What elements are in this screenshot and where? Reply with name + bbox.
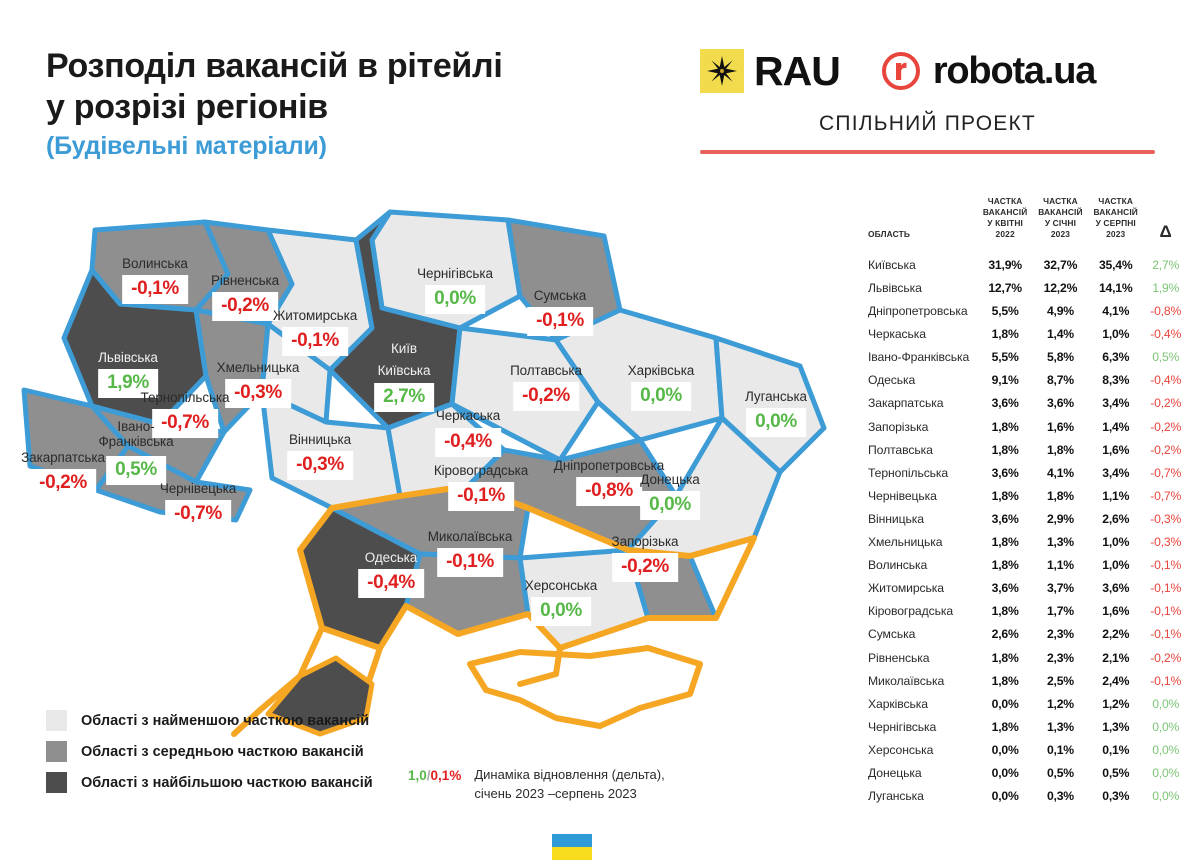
- page-title-line1: Розподіл вакансій в рітейлі: [46, 46, 666, 87]
- cell-aug-2023: 2,1%: [1088, 646, 1143, 669]
- cell-delta: 0,0%: [1143, 715, 1188, 738]
- legend-item-0: Області з найменшою часткою вакансій: [46, 706, 446, 735]
- cell-region: Херсонська: [868, 738, 978, 761]
- table-body: Київська31,9%32,7%35,4%2,7%Львівська12,7…: [868, 253, 1188, 807]
- table-row: Кіровоградська1,8%1,7%1,6%-0,1%: [868, 600, 1188, 623]
- map-value-23: 0,0%: [531, 597, 591, 626]
- cell-apr-2022: 1,8%: [978, 415, 1033, 438]
- table-row: Рівненська1,8%2,3%2,1%-0,2%: [868, 646, 1188, 669]
- joint-project-label: СПІЛЬНИЙ ПРОЕКТ: [700, 112, 1155, 136]
- cell-apr-2022: 3,6%: [978, 577, 1033, 600]
- cell-aug-2023: 1,2%: [1088, 692, 1143, 715]
- map-label-13: Вінницька: [289, 432, 351, 447]
- rau-logo: RAU: [700, 48, 840, 95]
- cell-region: Хмельницька: [868, 531, 978, 554]
- cell-region: Вінницька: [868, 507, 978, 530]
- col-header-apr-2022: ЧАСТКАВАКАНСІЙУ КВІТНІ2022: [978, 196, 1033, 253]
- cell-aug-2023: 1,4%: [1088, 415, 1143, 438]
- cell-apr-2022: 1,8%: [978, 484, 1033, 507]
- table-row: Житомирська3,6%3,7%3,6%-0,1%: [868, 577, 1188, 600]
- title-block: Розподіл вакансій в рітейлі у розрізі ре…: [46, 46, 666, 162]
- delta-description: Динаміка відновлення (дельта), січень 20…: [474, 766, 664, 804]
- legend-item-1: Області з середньою часткою вакансій: [46, 737, 446, 766]
- rau-wordmark: RAU: [754, 48, 840, 95]
- cell-jan-2023: 32,7%: [1033, 253, 1088, 276]
- cell-aug-2023: 1,6%: [1088, 600, 1143, 623]
- cell-delta: -0,7%: [1143, 461, 1188, 484]
- cell-region: Дніпропетровська: [868, 300, 978, 323]
- map-label-1: Рівненська: [211, 273, 279, 288]
- legend-label-0: Області з найменшою часткою вакансій: [81, 713, 369, 729]
- cell-delta: -0,2%: [1143, 646, 1188, 669]
- table-row: Івано-Франківська5,5%5,8%6,3%0,5%: [868, 346, 1188, 369]
- cell-region: Черкаська: [868, 323, 978, 346]
- header: Розподіл вакансій в рітейлі у розрізі ре…: [0, 0, 1200, 180]
- map-label-23: Херсонська: [525, 578, 597, 593]
- cell-delta: -0,1%: [1143, 600, 1188, 623]
- cell-jan-2023: 3,6%: [1033, 392, 1088, 415]
- cell-jan-2023: 0,5%: [1033, 761, 1088, 784]
- cell-jan-2023: 1,8%: [1033, 484, 1088, 507]
- map-value-8: -0,2%: [513, 382, 579, 411]
- map-value-2: -0,1%: [282, 327, 348, 356]
- cell-apr-2022: 1,8%: [978, 646, 1033, 669]
- cell-region: Харківська: [868, 692, 978, 715]
- map-label-3: Чернігівська: [417, 266, 493, 281]
- cell-delta: -0,3%: [1143, 507, 1188, 530]
- cell-jan-2023: 2,9%: [1033, 507, 1088, 530]
- table-row: Запорізька1,8%1,6%1,4%-0,2%: [868, 415, 1188, 438]
- cell-delta: 0,0%: [1143, 785, 1188, 808]
- delta-note: 1,0/0,1% Динаміка відновлення (дельта), …: [408, 766, 665, 804]
- logo-row: RAU robota.ua: [700, 42, 1170, 100]
- map-legend: Області з найменшою часткою вакансійОбла…: [46, 706, 446, 799]
- cell-region: Закарпатська: [868, 392, 978, 415]
- map-value-12: -0,4%: [435, 428, 501, 457]
- cell-jan-2023: 0,3%: [1033, 785, 1088, 808]
- table-row: Чернігівська1,8%1,3%1,3%0,0%: [868, 715, 1188, 738]
- map-label-8: Полтавська: [510, 363, 582, 378]
- cell-aug-2023: 8,3%: [1088, 369, 1143, 392]
- map-label-12: Черкаська: [436, 408, 500, 423]
- cell-region: Кіровоградська: [868, 600, 978, 623]
- map-label-19: Чернівецька: [160, 481, 236, 496]
- cell-jan-2023: 1,1%: [1033, 554, 1088, 577]
- cell-jan-2023: 12,2%: [1033, 276, 1088, 299]
- cell-delta: -0,4%: [1143, 323, 1188, 346]
- cell-aug-2023: 14,1%: [1088, 276, 1143, 299]
- cell-apr-2022: 0,0%: [978, 785, 1033, 808]
- table-row: Львівська12,7%12,2%14,1%1,9%: [868, 276, 1188, 299]
- cell-apr-2022: 3,6%: [978, 461, 1033, 484]
- map-value-9: 0,0%: [631, 382, 691, 411]
- map-value-4: -0,1%: [527, 307, 593, 336]
- cell-region: Рівненська: [868, 646, 978, 669]
- cell-apr-2022: 1,8%: [978, 438, 1033, 461]
- cell-jan-2023: 4,9%: [1033, 300, 1088, 323]
- legend-swatch-0: [46, 710, 67, 731]
- map-value-15: -0,8%: [576, 477, 642, 506]
- cell-delta: -0,2%: [1143, 415, 1188, 438]
- robota-wordmark: robota.ua: [933, 50, 1095, 93]
- cell-delta: -0,7%: [1143, 484, 1188, 507]
- table-row: Дніпропетровська5,5%4,9%4,1%-0,8%: [868, 300, 1188, 323]
- legend-item-2: Області з найбільшою часткою вакансій: [46, 768, 446, 797]
- map-label-22: Одеська: [365, 550, 417, 565]
- cell-delta: 2,7%: [1143, 253, 1188, 276]
- col-header-region: ОБЛАСТЬ: [868, 196, 978, 253]
- map-label-20: Миколаївська: [428, 529, 513, 544]
- cell-aug-2023: 3,4%: [1088, 461, 1143, 484]
- cell-apr-2022: 3,6%: [978, 507, 1033, 530]
- cell-region: Чернівецька: [868, 484, 978, 507]
- cell-aug-2023: 1,3%: [1088, 715, 1143, 738]
- map-label-0: Волинська: [122, 256, 188, 271]
- map-value-0: -0,1%: [122, 275, 188, 304]
- table-row: Чернівецька1,8%1,8%1,1%-0,7%: [868, 484, 1188, 507]
- map-label-21: Запорізька: [612, 534, 679, 549]
- cell-apr-2022: 1,8%: [978, 531, 1033, 554]
- cell-jan-2023: 1,4%: [1033, 323, 1088, 346]
- cell-apr-2022: 0,0%: [978, 761, 1033, 784]
- map-value-14: -0,1%: [448, 482, 514, 511]
- cell-apr-2022: 1,8%: [978, 669, 1033, 692]
- cell-aug-2023: 0,1%: [1088, 738, 1143, 761]
- table-row: Волинська1,8%1,1%1,0%-0,1%: [868, 554, 1188, 577]
- cell-region: Луганська: [868, 785, 978, 808]
- delta-key-positive: 1,0: [408, 768, 427, 783]
- delta-key-negative: 0,1%: [431, 768, 462, 783]
- cell-delta: 0,0%: [1143, 761, 1188, 784]
- map-label-11: Тернопільська: [141, 390, 230, 405]
- cell-jan-2023: 3,7%: [1033, 577, 1088, 600]
- table-head: ОБЛАСТЬ ЧАСТКАВАКАНСІЙУ КВІТНІ2022 ЧАСТК…: [868, 196, 1188, 253]
- col-header-jan-2023: ЧАСТКАВАКАНСІЙУ СІЧНІ2023: [1033, 196, 1088, 253]
- table-row: Черкаська1,8%1,4%1,0%-0,4%: [868, 323, 1188, 346]
- cell-region: Івано-Франківська: [868, 346, 978, 369]
- table-row: Одеська9,1%8,7%8,3%-0,4%: [868, 369, 1188, 392]
- cell-region: Запорізька: [868, 415, 978, 438]
- cell-delta: -0,2%: [1143, 438, 1188, 461]
- map-label-5: Львівська: [98, 350, 158, 365]
- cell-jan-2023: 8,7%: [1033, 369, 1088, 392]
- brand-block: RAU robota.ua СПІЛЬНИЙ ПРОЕКТ: [700, 42, 1170, 154]
- cell-delta: -0,1%: [1143, 669, 1188, 692]
- cell-apr-2022: 1,8%: [978, 715, 1033, 738]
- cell-region: Донецька: [868, 761, 978, 784]
- header-divider: [700, 150, 1155, 154]
- cell-delta: 0,0%: [1143, 692, 1188, 715]
- cell-jan-2023: 2,5%: [1033, 669, 1088, 692]
- map-label-6: Хмельницька: [217, 360, 300, 375]
- map-value-22: -0,4%: [358, 569, 424, 598]
- map-value-10: 0,0%: [746, 408, 806, 437]
- map-label-14: Кіровоградська: [434, 463, 528, 478]
- map-label-18: Закарпатська: [21, 450, 105, 465]
- cell-apr-2022: 2,6%: [978, 623, 1033, 646]
- cell-region: Житомирська: [868, 577, 978, 600]
- table-row: Харківська0,0%1,2%1,2%0,0%: [868, 692, 1188, 715]
- delta-key: 1,0/0,1%: [408, 766, 461, 786]
- legend-swatch-1: [46, 741, 67, 762]
- col-header-aug-2023: ЧАСТКАВАКАНСІЙУ СЕРПНІ2023: [1088, 196, 1143, 253]
- cell-aug-2023: 4,1%: [1088, 300, 1143, 323]
- cell-apr-2022: 9,1%: [978, 369, 1033, 392]
- cell-aug-2023: 1,0%: [1088, 531, 1143, 554]
- ukraine-flag-icon: [551, 833, 593, 861]
- cell-jan-2023: 2,3%: [1033, 623, 1088, 646]
- table-row: Київська31,9%32,7%35,4%2,7%: [868, 253, 1188, 276]
- table-row: Полтавська1,8%1,8%1,6%-0,2%: [868, 438, 1188, 461]
- map-value-16: 0,0%: [640, 491, 700, 520]
- cell-delta: -0,1%: [1143, 554, 1188, 577]
- cell-apr-2022: 5,5%: [978, 300, 1033, 323]
- cell-aug-2023: 2,2%: [1088, 623, 1143, 646]
- map-label-15: Дніпропетровська: [554, 458, 664, 473]
- cell-region: Сумська: [868, 623, 978, 646]
- legend-label-2: Області з найбільшою часткою вакансій: [81, 775, 373, 791]
- cell-apr-2022: 0,0%: [978, 692, 1033, 715]
- cell-region: Полтавська: [868, 438, 978, 461]
- table-row: Донецька0,0%0,5%0,5%0,0%: [868, 761, 1188, 784]
- cell-apr-2022: 0,0%: [978, 738, 1033, 761]
- cell-delta: -0,3%: [1143, 531, 1188, 554]
- cell-region: Чернігівська: [868, 715, 978, 738]
- map-label-9: Харківська: [628, 363, 694, 378]
- map-label-16: Донецька: [640, 472, 699, 487]
- cell-aug-2023: 1,0%: [1088, 323, 1143, 346]
- cell-aug-2023: 2,4%: [1088, 669, 1143, 692]
- page-title-line2: у розрізі регіонів: [46, 87, 666, 128]
- map-label-7: Київська: [378, 363, 431, 378]
- map-label-2: Житомирська: [273, 308, 357, 323]
- robota-r-icon: [880, 50, 922, 92]
- map-value-3: 0,0%: [425, 285, 485, 314]
- map-value-13: -0,3%: [287, 451, 353, 480]
- legend-label-1: Області з середньою часткою вакансій: [81, 744, 364, 760]
- cell-jan-2023: 1,2%: [1033, 692, 1088, 715]
- cell-jan-2023: 1,6%: [1033, 415, 1088, 438]
- rau-star-icon: [700, 49, 744, 93]
- cell-delta: 1,9%: [1143, 276, 1188, 299]
- cell-apr-2022: 1,8%: [978, 554, 1033, 577]
- cell-jan-2023: 1,3%: [1033, 715, 1088, 738]
- map-label-10: Луганська: [745, 389, 807, 404]
- cell-jan-2023: 0,1%: [1033, 738, 1088, 761]
- regions-table: ОБЛАСТЬ ЧАСТКАВАКАНСІЙУ КВІТНІ2022 ЧАСТК…: [868, 196, 1188, 808]
- table-row: Тернопільська3,6%4,1%3,4%-0,7%: [868, 461, 1188, 484]
- table-row: Луганська0,0%0,3%0,3%0,0%: [868, 785, 1188, 808]
- cell-delta: -0,1%: [1143, 577, 1188, 600]
- cell-apr-2022: 1,8%: [978, 323, 1033, 346]
- map-value-18: -0,2%: [30, 469, 96, 498]
- cell-jan-2023: 1,3%: [1033, 531, 1088, 554]
- cell-delta: -0,1%: [1143, 623, 1188, 646]
- map-label-kyiv-city: Київ: [391, 341, 417, 356]
- delta-description-line1: Динаміка відновлення (дельта),: [474, 766, 664, 785]
- cell-delta: -0,8%: [1143, 300, 1188, 323]
- cell-aug-2023: 6,3%: [1088, 346, 1143, 369]
- col-header-delta: Δ: [1143, 196, 1188, 253]
- cell-region: Тернопільська: [868, 461, 978, 484]
- table-row: Хмельницька1,8%1,3%1,0%-0,3%: [868, 531, 1188, 554]
- map-value-1: -0,2%: [212, 292, 278, 321]
- map-value-20: -0,1%: [437, 548, 503, 577]
- cell-aug-2023: 1,0%: [1088, 554, 1143, 577]
- map-label-4: Сумська: [534, 288, 586, 303]
- table-row: Херсонська0,0%0,1%0,1%0,0%: [868, 738, 1188, 761]
- map-value-21: -0,2%: [612, 553, 678, 582]
- cell-jan-2023: 4,1%: [1033, 461, 1088, 484]
- cell-aug-2023: 3,4%: [1088, 392, 1143, 415]
- cell-aug-2023: 1,6%: [1088, 438, 1143, 461]
- cell-delta: 0,0%: [1143, 738, 1188, 761]
- cell-aug-2023: 3,6%: [1088, 577, 1143, 600]
- legend-swatch-2: [46, 772, 67, 793]
- table-row: Миколаївська1,8%2,5%2,4%-0,1%: [868, 669, 1188, 692]
- cell-apr-2022: 31,9%: [978, 253, 1033, 276]
- table-header-row: ОБЛАСТЬ ЧАСТКАВАКАНСІЙУ КВІТНІ2022 ЧАСТК…: [868, 196, 1188, 253]
- cell-region: Львівська: [868, 276, 978, 299]
- cell-region: Волинська: [868, 554, 978, 577]
- cell-delta: -0,2%: [1143, 392, 1188, 415]
- cell-aug-2023: 0,5%: [1088, 761, 1143, 784]
- cell-jan-2023: 5,8%: [1033, 346, 1088, 369]
- table-row: Закарпатська3,6%3,6%3,4%-0,2%: [868, 392, 1188, 415]
- cell-jan-2023: 1,7%: [1033, 600, 1088, 623]
- map-value-17: 0,5%: [106, 456, 166, 485]
- cell-apr-2022: 3,6%: [978, 392, 1033, 415]
- page-subtitle: (Будівельні матеріали): [46, 131, 666, 162]
- table-row: Сумська2,6%2,3%2,2%-0,1%: [868, 623, 1188, 646]
- cell-jan-2023: 2,3%: [1033, 646, 1088, 669]
- cell-apr-2022: 12,7%: [978, 276, 1033, 299]
- cell-apr-2022: 1,8%: [978, 600, 1033, 623]
- cell-jan-2023: 1,8%: [1033, 438, 1088, 461]
- cell-region: Київська: [868, 253, 978, 276]
- table-row: Вінницька3,6%2,9%2,6%-0,3%: [868, 507, 1188, 530]
- cell-delta: -0,4%: [1143, 369, 1188, 392]
- delta-description-line2: січень 2023 –серпень 2023: [474, 785, 664, 804]
- map-value-6: -0,3%: [225, 379, 291, 408]
- map-value-7: 2,7%: [374, 383, 434, 412]
- robota-logo: robota.ua: [880, 50, 1095, 93]
- cell-aug-2023: 1,1%: [1088, 484, 1143, 507]
- cell-delta: 0,5%: [1143, 346, 1188, 369]
- cell-aug-2023: 0,3%: [1088, 785, 1143, 808]
- regions-table-panel: ОБЛАСТЬ ЧАСТКАВАКАНСІЙУ КВІТНІ2022 ЧАСТК…: [868, 196, 1188, 808]
- cell-region: Одеська: [868, 369, 978, 392]
- cell-aug-2023: 35,4%: [1088, 253, 1143, 276]
- map-label-17: Івано-Франківська: [98, 419, 173, 449]
- ukraine-map: Київ Волинська-0,1%Рівненська-0,2%Житоми…: [0, 178, 860, 738]
- map-value-19: -0,7%: [165, 500, 231, 529]
- cell-aug-2023: 2,6%: [1088, 507, 1143, 530]
- cell-region: Миколаївська: [868, 669, 978, 692]
- cell-apr-2022: 5,5%: [978, 346, 1033, 369]
